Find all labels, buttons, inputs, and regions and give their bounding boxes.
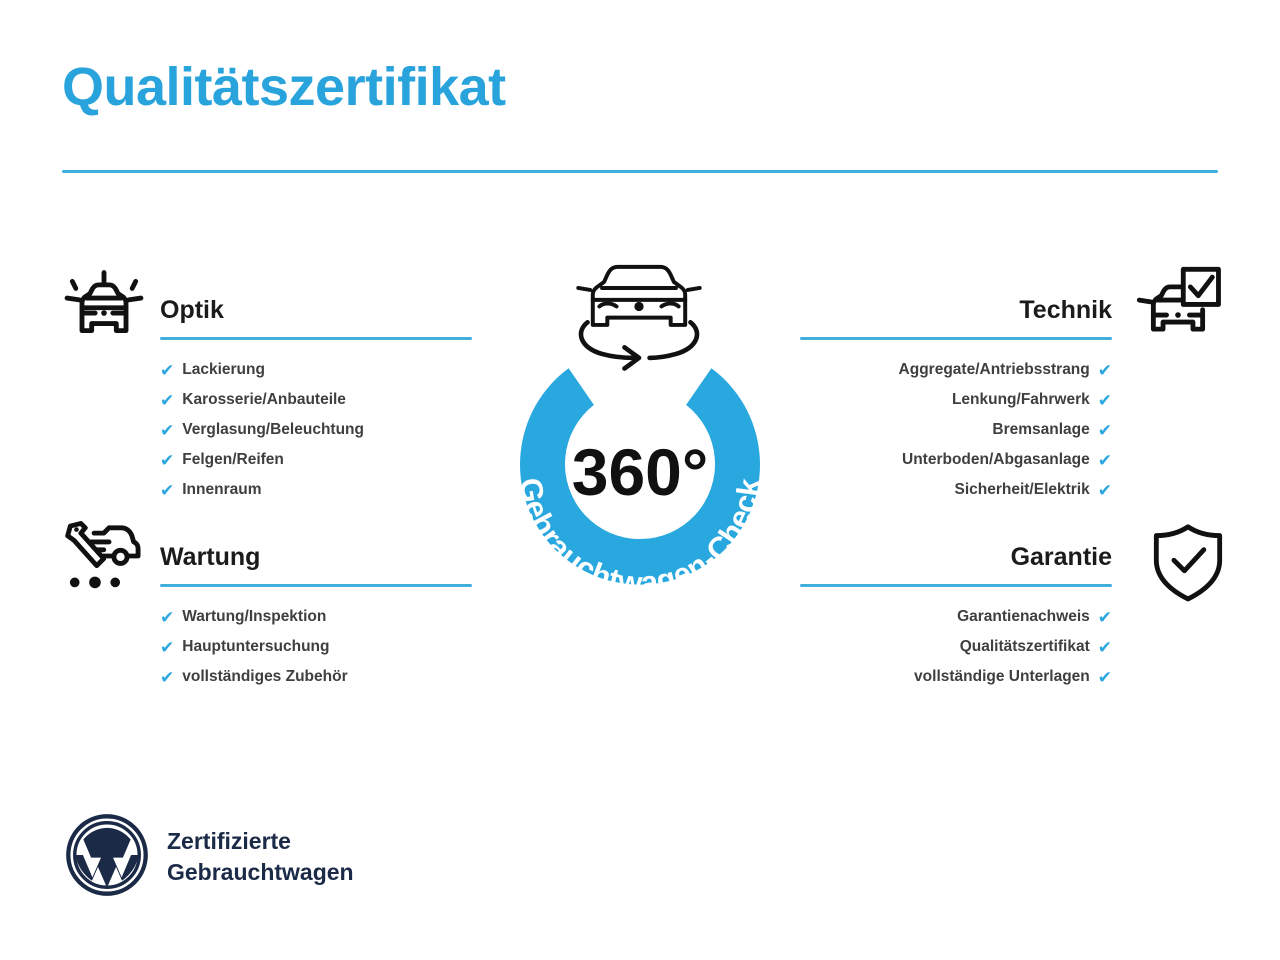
list-item-label: Verglasung/Beleuchtung xyxy=(182,415,364,445)
list-item-label: Qualitätszertifikat xyxy=(960,632,1090,662)
list-item-label: Lenkung/Fahrwerk xyxy=(952,385,1090,415)
footer-line-1: Zertifizierte xyxy=(167,826,354,857)
checklist-garantie: Garantienachweis ✔ Qualitätszertifikat ✔… xyxy=(800,602,1112,692)
list-item-label: Garantienachweis xyxy=(957,602,1090,632)
list-item: ✔ Hauptuntersuchung xyxy=(160,632,472,662)
list-item-label: Hauptuntersuchung xyxy=(182,632,329,662)
list-item-label: Felgen/Reifen xyxy=(182,445,284,475)
vw-logo xyxy=(64,812,150,898)
list-item: ✔ Felgen/Reifen xyxy=(160,445,472,475)
car-service-tool-icon xyxy=(58,512,146,600)
section-divider-technik xyxy=(800,337,1112,340)
list-item: Sicherheit/Elektrik ✔ xyxy=(800,475,1112,505)
list-item: ✔ Lackierung xyxy=(160,355,472,385)
list-item-label: Wartung/Inspektion xyxy=(182,602,326,632)
list-item-label: Bremsanlage xyxy=(992,415,1089,445)
check-icon: ✔ xyxy=(1098,609,1112,626)
car-shine-icon xyxy=(60,262,148,350)
list-item-label: Lackierung xyxy=(182,355,265,385)
section-garantie: Garantie Garantienachweis ✔ Qualitätszer… xyxy=(800,545,1112,692)
list-item: Lenkung/Fahrwerk ✔ xyxy=(800,385,1112,415)
section-divider-optik xyxy=(160,337,472,340)
car-checkbox-icon xyxy=(1134,264,1222,352)
list-item: Unterboden/Abgasanlage ✔ xyxy=(800,445,1112,475)
footer-line-2: Gebrauchtwagen xyxy=(167,857,354,888)
section-divider-wartung xyxy=(160,584,472,587)
checklist-technik: Aggregate/Antriebsstrang ✔ Lenkung/Fahrw… xyxy=(800,355,1112,505)
list-item: ✔ Karosserie/Anbauteile xyxy=(160,385,472,415)
section-heading-garantie: Garantie xyxy=(800,545,1112,570)
check-icon: ✔ xyxy=(1098,362,1112,379)
check-icon: ✔ xyxy=(1098,452,1112,469)
check-icon: ✔ xyxy=(160,422,174,439)
list-item: ✔ Innenraum xyxy=(160,475,472,505)
check-icon: ✔ xyxy=(160,639,174,656)
list-item-label: Innenraum xyxy=(182,475,261,505)
list-item: Garantienachweis ✔ xyxy=(800,602,1112,632)
list-item-label: Karosserie/Anbauteile xyxy=(182,385,346,415)
check-icon: ✔ xyxy=(1098,639,1112,656)
list-item: Qualitätszertifikat ✔ xyxy=(800,632,1112,662)
section-heading-technik: Technik xyxy=(800,298,1112,323)
list-item: Bremsanlage ✔ xyxy=(800,415,1112,445)
gebrauchtwagen-check-badge: Gebrauchtwagen-Check 360° xyxy=(470,243,810,643)
section-optik: Optik ✔ Lackierung ✔ Karosserie/Anbautei… xyxy=(160,298,472,505)
list-item-label: vollständiges Zubehör xyxy=(182,662,347,692)
check-icon: ✔ xyxy=(160,609,174,626)
list-item: Aggregate/Antriebsstrang ✔ xyxy=(800,355,1112,385)
list-item: ✔ Wartung/Inspektion xyxy=(160,602,472,632)
section-heading-optik: Optik xyxy=(160,298,472,323)
list-item: ✔ vollständiges Zubehör xyxy=(160,662,472,692)
certificate-page: Qualitätszertifikat Optik ✔ Lackierung xyxy=(0,0,1280,960)
car-rotate-icon xyxy=(578,267,699,369)
title-divider xyxy=(62,170,1218,173)
check-icon: ✔ xyxy=(160,452,174,469)
check-icon: ✔ xyxy=(160,669,174,686)
checklist-wartung: ✔ Wartung/Inspektion ✔ Hauptuntersuchung… xyxy=(160,602,472,692)
section-heading-wartung: Wartung xyxy=(160,545,472,570)
check-icon: ✔ xyxy=(1098,392,1112,409)
section-wartung: Wartung ✔ Wartung/Inspektion ✔ Hauptunte… xyxy=(160,545,472,692)
check-icon: ✔ xyxy=(1098,669,1112,686)
check-icon: ✔ xyxy=(160,482,174,499)
check-icon: ✔ xyxy=(1098,422,1112,439)
list-item-label: Unterboden/Abgasanlage xyxy=(902,445,1090,475)
shield-check-icon xyxy=(1144,518,1232,606)
footer-brand-text: Zertifizierte Gebrauchtwagen xyxy=(167,826,354,888)
checklist-optik: ✔ Lackierung ✔ Karosserie/Anbauteile ✔ V… xyxy=(160,355,472,505)
check-icon: ✔ xyxy=(160,392,174,409)
section-technik: Technik Aggregate/Antriebsstrang ✔ Lenku… xyxy=(800,298,1112,505)
list-item-label: Aggregate/Antriebsstrang xyxy=(899,355,1090,385)
list-item-label: vollständige Unterlagen xyxy=(914,662,1090,692)
check-icon: ✔ xyxy=(1098,482,1112,499)
badge-center-label: 360° xyxy=(572,435,709,509)
check-icon: ✔ xyxy=(160,362,174,379)
list-item: vollständige Unterlagen ✔ xyxy=(800,662,1112,692)
section-divider-garantie xyxy=(800,584,1112,587)
list-item: ✔ Verglasung/Beleuchtung xyxy=(160,415,472,445)
page-title: Qualitätszertifikat xyxy=(62,58,506,117)
list-item-label: Sicherheit/Elektrik xyxy=(954,475,1089,505)
